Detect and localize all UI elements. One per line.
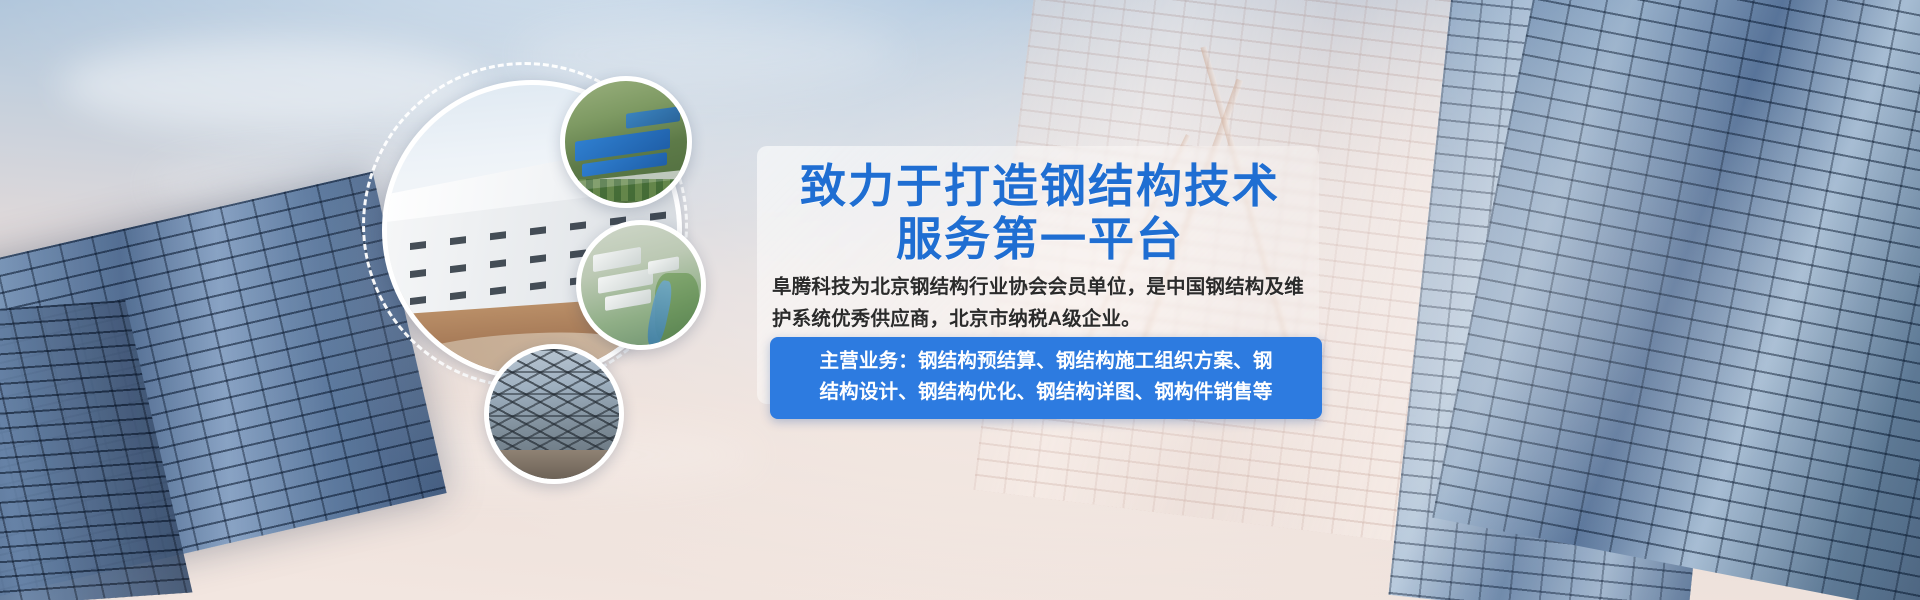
business-scope-box: 主营业务：钢结构预结算、钢结构施工组织方案、钢 结构设计、钢结构优化、钢结构详图… [770, 337, 1322, 419]
photo-aerial-factory-blue-roof [560, 76, 692, 208]
building-block [605, 289, 651, 311]
building-block [593, 247, 641, 272]
photo-aerial-campus-river [576, 220, 706, 350]
headline-line-1: 致力于打造钢结构技术 [800, 159, 1280, 213]
business-line-1: 主营业务：钢结构预结算、钢结构施工组织方案、钢 [786, 346, 1306, 377]
construction-ground [489, 450, 619, 479]
photo-collage [352, 48, 752, 478]
headline: 致力于打造钢结构技术 服务第一平台 [757, 160, 1323, 267]
business-line-2: 结构设计、钢结构优化、钢结构详图、钢构件销售等 [786, 377, 1306, 408]
hero-banner: 致力于打造钢结构技术 服务第一平台 阜腾科技为北京钢结构行业协会会员单位，是中国… [0, 0, 1920, 600]
photo-steel-truss-structure [484, 344, 624, 484]
description-line-2: 护系统优秀供应商，北京市纳税A级企业。 [772, 308, 1141, 330]
headline-line-2: 服务第一平台 [757, 213, 1323, 266]
tree-row [572, 179, 679, 201]
description-line-1: 阜腾科技为北京钢结构行业协会会员单位，是中国钢结构及维 [772, 276, 1304, 298]
blue-roof [626, 106, 680, 128]
description-paragraph: 阜腾科技为北京钢结构行业协会会员单位，是中国钢结构及维 护系统优秀供应商，北京市… [772, 272, 1308, 335]
building-block [648, 256, 679, 275]
